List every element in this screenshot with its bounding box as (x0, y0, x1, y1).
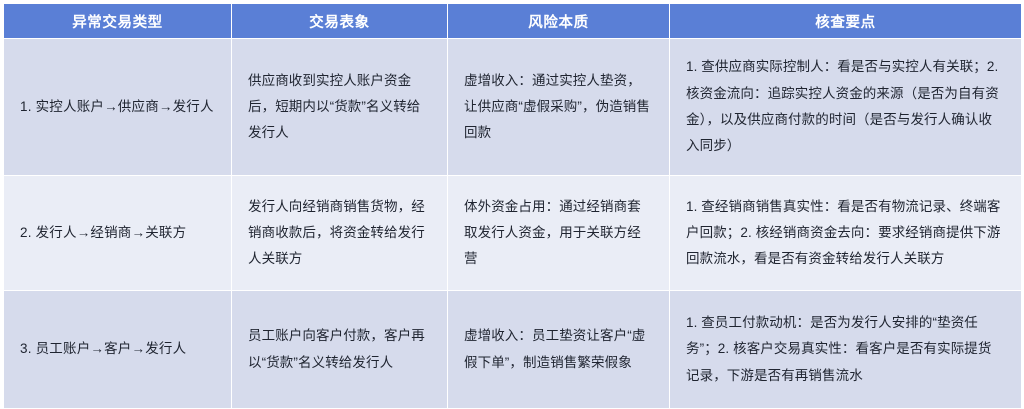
column-header-risk-essence: 风险本质 (448, 4, 670, 39)
table-row: 1. 实控人账户→供应商→发行人 供应商收到实控人账户资金后，短期内以“货款”名… (4, 39, 1022, 176)
cell-risk-essence: 虚增收入：员工垫资让客户“虚假下单”，制造销售繁荣假象 (448, 291, 670, 409)
column-header-transaction-type: 异常交易类型 (4, 4, 232, 39)
cell-transaction-type: 3. 员工账户→客户→发行人 (4, 291, 232, 409)
table-header: 异常交易类型 交易表象 风险本质 核查要点 (4, 4, 1022, 39)
cell-verification-points: 1. 查员工付款动机：是否为发行人安排的“垫资任务”；2. 核客户交易真实性：看… (670, 291, 1022, 409)
cell-transaction-form: 发行人向经销商销售货物，经销商收款后，将资金转给发行人关联方 (232, 176, 448, 291)
table-row: 3. 员工账户→客户→发行人 员工账户向客户付款，客户再以“货款”名义转给发行人… (4, 291, 1022, 409)
table-row: 2. 发行人→经销商→关联方 发行人向经销商销售货物，经销商收款后，将资金转给发… (4, 176, 1022, 291)
cell-transaction-type: 1. 实控人账户→供应商→发行人 (4, 39, 232, 176)
cell-risk-essence: 虚增收入：通过实控人垫资，让供应商“虚假采购”，伪造销售回款 (448, 39, 670, 176)
risk-table-container: 异常交易类型 交易表象 风险本质 核查要点 1. 实控人账户→供应商→发行人 供… (3, 3, 1021, 405)
column-header-transaction-form: 交易表象 (232, 4, 448, 39)
cell-verification-points: 1. 查经销商销售真实性：看是否有物流记录、终端客户回款；2. 核经销商资金去向… (670, 176, 1022, 291)
table-body: 1. 实控人账户→供应商→发行人 供应商收到实控人账户资金后，短期内以“货款”名… (4, 39, 1022, 409)
column-header-verification-points: 核查要点 (670, 4, 1022, 39)
cell-risk-essence: 体外资金占用：通过经销商套取发行人资金，用于关联方经营 (448, 176, 670, 291)
cell-transaction-form: 员工账户向客户付款，客户再以“货款”名义转给发行人 (232, 291, 448, 409)
cell-transaction-type: 2. 发行人→经销商→关联方 (4, 176, 232, 291)
cell-verification-points: 1. 查供应商实际控制人：看是否与实控人有关联；2. 核资金流向：追踪实控人资金… (670, 39, 1022, 176)
cell-transaction-form: 供应商收到实控人账户资金后，短期内以“货款”名义转给发行人 (232, 39, 448, 176)
abnormal-transaction-table: 异常交易类型 交易表象 风险本质 核查要点 1. 实控人账户→供应商→发行人 供… (3, 3, 1022, 409)
table-header-row: 异常交易类型 交易表象 风险本质 核查要点 (4, 4, 1022, 39)
